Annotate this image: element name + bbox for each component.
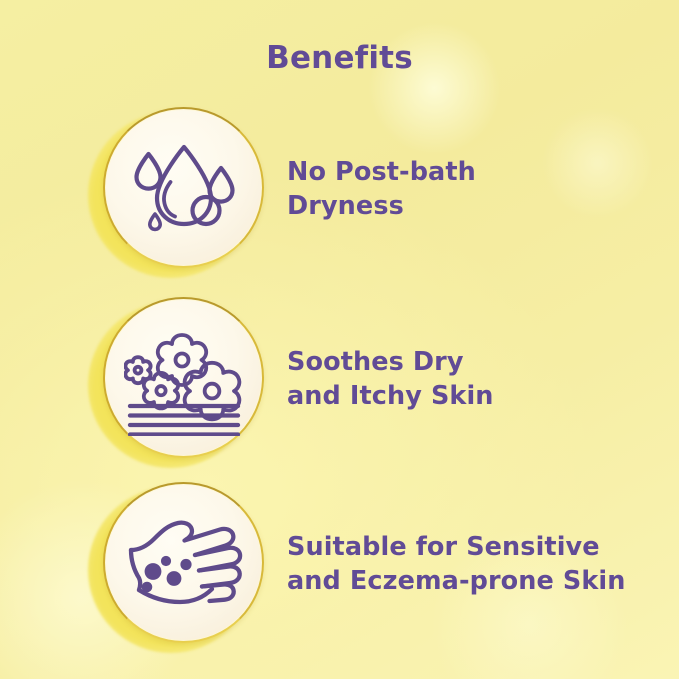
benefit-badge-1 xyxy=(88,102,273,278)
skin-spots xyxy=(141,555,191,591)
hand-with-spots-icon xyxy=(125,508,243,618)
page-title: Benefits xyxy=(0,40,679,76)
benefit-label-1: No Post-bath Dryness xyxy=(287,156,476,224)
badge-disc xyxy=(103,297,264,458)
benefit-row-2: Soothes Dry and Itchy Skin xyxy=(0,292,679,468)
benefit-badge-3 xyxy=(88,477,273,653)
benefit-row-1: No Post-bath Dryness xyxy=(0,102,679,278)
badge-disc xyxy=(103,482,264,643)
benefit-badge-2 xyxy=(88,292,273,468)
benefit-label-2: Soothes Dry and Itchy Skin xyxy=(287,346,494,414)
benefit-label-3: Suitable for Sensitive and Eczema-prone … xyxy=(287,531,626,599)
benefit-row-3: Suitable for Sensitive and Eczema-prone … xyxy=(0,477,679,653)
badge-disc xyxy=(103,107,264,268)
benefits-poster: Benefits xyxy=(0,0,679,679)
water-droplets-icon xyxy=(126,130,242,246)
flowers-field-icon xyxy=(124,320,244,436)
